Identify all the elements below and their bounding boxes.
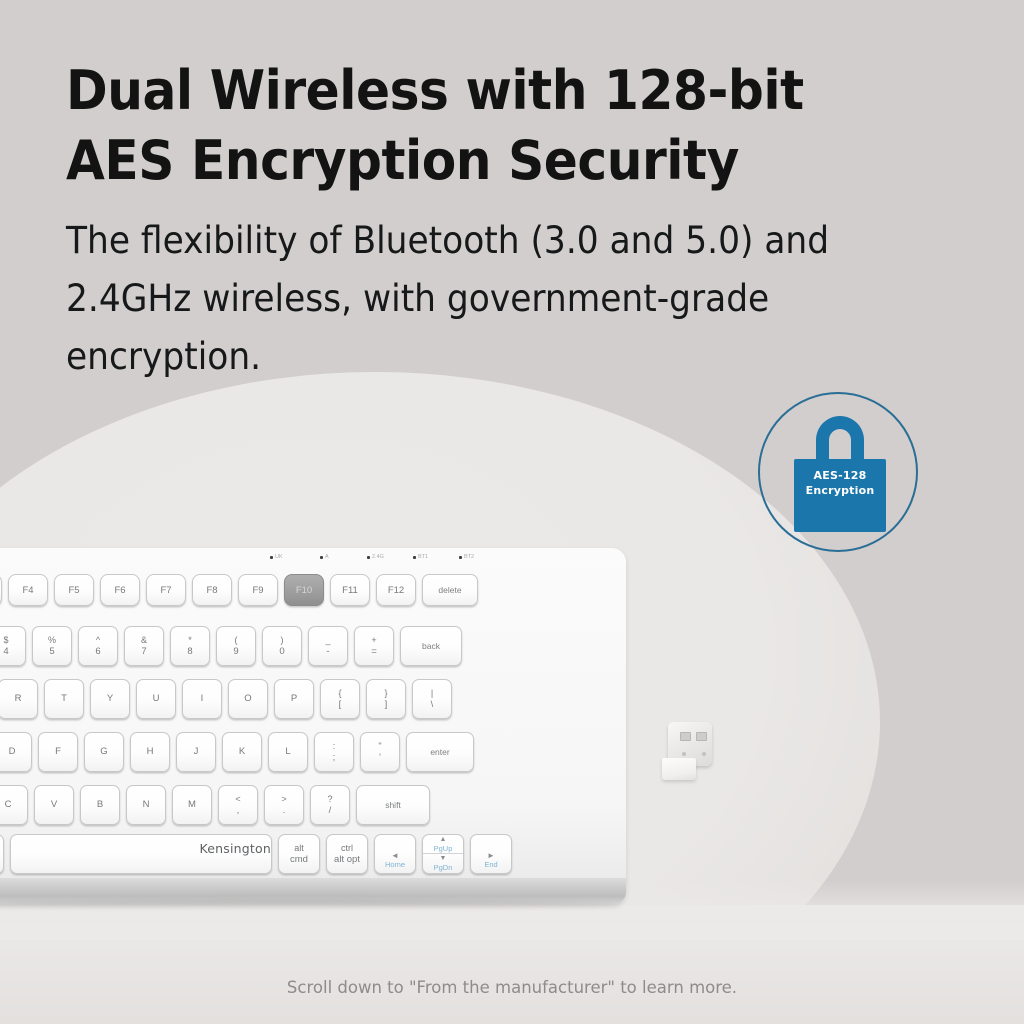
key-label: P <box>291 693 297 705</box>
arrow-glyph-icon: ▼ <box>440 855 447 863</box>
key-label: F7 <box>160 585 171 596</box>
key-label: , <box>237 805 240 817</box>
dongle-contact-slot <box>696 732 707 741</box>
key-shift-label: < <box>235 794 240 805</box>
channel-led-a: A <box>320 554 329 560</box>
key-4[interactable]: $4 <box>0 626 26 666</box>
key-label: U <box>153 693 160 705</box>
led-label: BT1 <box>418 554 428 560</box>
key-g[interactable]: G <box>84 732 124 772</box>
subcopy-line-3: encryption. <box>66 328 866 386</box>
keyboard-qwerty-row: ERTYUIOP{[}]|\ <box>0 679 452 719</box>
key-delete[interactable]: delete <box>422 574 478 606</box>
key-label: M <box>188 799 196 811</box>
key-5[interactable]: %5 <box>32 626 72 666</box>
key-shift-label: _ <box>325 635 330 646</box>
key-shift-label: + <box>371 635 376 646</box>
channel-led-24g: 2.4G <box>367 554 384 560</box>
key-f10[interactable]: F10 <box>284 574 324 606</box>
arrow-glyph-icon: ► <box>487 851 495 860</box>
key-label: D <box>9 746 16 758</box>
key-y[interactable]: Y <box>90 679 130 719</box>
key-h[interactable]: H <box>130 732 170 772</box>
key-label: enter <box>430 747 449 757</box>
key-m[interactable]: M <box>172 785 212 825</box>
key-j[interactable]: J <box>176 732 216 772</box>
key-label: O <box>244 693 251 705</box>
dongle-pin <box>682 752 686 756</box>
key-f9[interactable]: F9 <box>238 574 278 606</box>
key-shift-label: ( <box>235 635 238 646</box>
key-k[interactable]: K <box>222 732 262 772</box>
led-dot-icon <box>413 556 416 559</box>
key-shift-label: $ <box>3 635 8 646</box>
usb-receiver-dongle <box>662 722 716 784</box>
footer-note: Scroll down to "From the manufacturer" t… <box>0 978 1024 997</box>
key-label: J <box>194 746 199 758</box>
key-shift-label: } <box>384 688 387 699</box>
key-i[interactable]: I <box>182 679 222 719</box>
key-shift-label: > <box>281 794 286 805</box>
dongle-tip <box>662 758 696 780</box>
arrow-glyph-icon: ▲ <box>440 836 447 844</box>
subcopy-line-1: The flexibility of Bluetooth (3.0 and 5.… <box>66 212 866 270</box>
key-alt-cmd-left[interactable]: altcmd <box>0 834 4 874</box>
key-arrow-up-down[interactable]: ▲PgUp▼PgDn <box>422 834 464 874</box>
key-label: [ <box>339 699 342 711</box>
led-label: UK <box>275 554 283 560</box>
key-shift-label: " <box>378 741 381 752</box>
key-f11[interactable]: F11 <box>330 574 370 606</box>
key-arrow-right-end[interactable]: ►End <box>470 834 512 874</box>
arrow-secondary-label: PgDn <box>434 863 453 872</box>
badge-label: AES-128 Encryption <box>790 468 890 498</box>
key-label: ] <box>385 699 388 711</box>
key-shift-label: : <box>333 741 336 752</box>
key-9[interactable]: (9 <box>216 626 256 666</box>
badge-label-line-1: AES-128 <box>790 468 890 483</box>
keyboard-home-row: SDFGHJKL:;"'enter <box>0 732 474 772</box>
key-top-label: alt <box>294 843 304 854</box>
key-b[interactable]: B <box>80 785 120 825</box>
key-label: K <box>239 746 245 758</box>
channel-led-uk: UK <box>270 554 283 560</box>
key-f4[interactable]: F4 <box>8 574 48 606</box>
key-l[interactable]: L <box>268 732 308 772</box>
key-shift-label: * <box>188 635 192 646</box>
key-label: Y <box>107 693 113 705</box>
key-shift-label: & <box>141 635 147 646</box>
key-7[interactable]: &7 <box>124 626 164 666</box>
key-label: 6 <box>95 646 100 658</box>
key-f[interactable]: F <box>38 732 78 772</box>
key-label: 0 <box>279 646 284 658</box>
key-rbracket[interactable]: }] <box>366 679 406 719</box>
key-label: 9 <box>233 646 238 658</box>
key-backslash[interactable]: |\ <box>412 679 452 719</box>
key-label: = <box>371 646 377 658</box>
key-comma[interactable]: <, <box>218 785 258 825</box>
key-label: C <box>5 799 12 811</box>
key-semicolon[interactable]: :; <box>314 732 354 772</box>
key-quote[interactable]: "' <box>360 732 400 772</box>
led-dot-icon <box>270 556 273 559</box>
key-spacebar[interactable]: Kensington <box>10 834 272 874</box>
key-t[interactable]: T <box>44 679 84 719</box>
key-enter[interactable]: enter <box>406 732 474 772</box>
key-f7[interactable]: F7 <box>146 574 186 606</box>
key-f12[interactable]: F12 <box>376 574 416 606</box>
channel-led-bt1: BT1 <box>413 554 428 560</box>
arrow-secondary-label: Home <box>385 860 405 869</box>
key-u[interactable]: U <box>136 679 176 719</box>
key-top-label: ctrl <box>341 843 353 854</box>
keyboard-bottom-row: XCVBNM<,>.?/shift <box>0 785 430 825</box>
key-label: 7 <box>141 646 146 658</box>
key-r[interactable]: R <box>0 679 38 719</box>
key-p[interactable]: P <box>274 679 314 719</box>
key-arrow-down-pgdn[interactable]: ▼PgDn <box>423 854 463 873</box>
led-label: 2.4G <box>372 554 384 560</box>
key-6[interactable]: ^6 <box>78 626 118 666</box>
keyboard-modifier-row: altcmdKensingtonaltcmdctrlalt opt◄Home▲P… <box>0 834 512 874</box>
subcopy-line-2: 2.4GHz wireless, with government-grade <box>66 270 866 328</box>
copy-block: Dual Wireless with 128-bit AES Encryptio… <box>66 56 926 386</box>
key-label: - <box>326 646 329 658</box>
key-label: F8 <box>206 585 217 596</box>
channel-led-bt2: BT2 <box>459 554 474 560</box>
key-lbracket[interactable]: {[ <box>320 679 360 719</box>
key-shift[interactable]: shift <box>356 785 430 825</box>
key-label: delete <box>438 585 461 595</box>
key-label: 4 <box>3 646 8 658</box>
key-shift-label: ) <box>281 635 284 646</box>
key-shift-label: ? <box>327 794 332 805</box>
key-arrow-up-pgup[interactable]: ▲PgUp <box>423 835 463 854</box>
key-label: 8 <box>187 646 192 658</box>
key-label: F <box>55 746 61 758</box>
arrow-glyph-icon: ◄ <box>391 851 399 860</box>
key-0[interactable]: )0 <box>262 626 302 666</box>
key-label: F12 <box>388 585 404 596</box>
key-minus[interactable]: _- <box>308 626 348 666</box>
key-label: G <box>100 746 107 758</box>
keyboard-product-photo: UKA2.4GBT1BT2 F3F4F5F6F7F8F9F10F11F12del… <box>0 548 626 904</box>
led-label: A <box>325 554 329 560</box>
key-8[interactable]: *8 <box>170 626 210 666</box>
channel-indicator-leds: UKA2.4GBT1BT2 <box>0 554 626 568</box>
dongle-pin <box>702 752 706 756</box>
key-label: R <box>15 693 22 705</box>
keyboard-number-row: #3$4%5^6&7*8(9)0_-+=back <box>0 626 462 666</box>
key-shift-label: { <box>338 688 341 699</box>
key-shift-label: | <box>431 688 433 699</box>
key-o[interactable]: O <box>228 679 268 719</box>
key-equals[interactable]: += <box>354 626 394 666</box>
key-f3[interactable]: F3 <box>0 574 2 606</box>
key-shift-label: ^ <box>96 635 100 646</box>
key-v[interactable]: V <box>34 785 74 825</box>
key-arrow-left-home[interactable]: ◄Home <box>374 834 416 874</box>
key-label: shift <box>385 800 401 810</box>
key-label: V <box>51 799 57 811</box>
key-d[interactable]: D <box>0 732 32 772</box>
page-subtitle: The flexibility of Bluetooth (3.0 and 5.… <box>66 212 866 386</box>
key-label: F10 <box>296 585 312 596</box>
key-period[interactable]: >. <box>264 785 304 825</box>
led-dot-icon <box>367 556 370 559</box>
aes-encryption-badge: AES-128 Encryption <box>758 392 918 552</box>
key-ctrl-alt-opt[interactable]: ctrlalt opt <box>326 834 368 874</box>
key-label: I <box>201 693 204 705</box>
spacebar-brand-label: Kensington <box>199 841 271 856</box>
key-label: / <box>329 805 332 817</box>
key-label: F9 <box>252 585 263 596</box>
headline-line-1: Dual Wireless with 128-bit <box>66 56 866 126</box>
dongle-contact-slot <box>680 732 691 741</box>
key-label: \ <box>431 699 434 711</box>
led-dot-icon <box>320 556 323 559</box>
led-label: BT2 <box>464 554 474 560</box>
headline-line-2: AES Encryption Security <box>66 126 866 196</box>
page-title: Dual Wireless with 128-bit AES Encryptio… <box>66 56 866 196</box>
key-back[interactable]: back <box>400 626 462 666</box>
key-f5[interactable]: F5 <box>54 574 94 606</box>
key-slash[interactable]: ?/ <box>310 785 350 825</box>
key-label: T <box>61 693 67 705</box>
key-label: H <box>147 746 154 758</box>
lock-icon: AES-128 Encryption <box>790 416 890 532</box>
key-bottom-label: alt opt <box>334 854 360 866</box>
key-label: F11 <box>342 585 358 596</box>
key-shift-label: % <box>48 635 56 646</box>
product-feature-image: Dual Wireless with 128-bit AES Encryptio… <box>0 0 1024 1024</box>
badge-label-line-2: Encryption <box>790 483 890 498</box>
key-alt-cmd-right[interactable]: altcmd <box>278 834 320 874</box>
key-label: B <box>97 799 103 811</box>
key-label: 5 <box>49 646 54 658</box>
key-label: . <box>283 805 286 817</box>
arrow-secondary-label: End <box>484 860 497 869</box>
key-n[interactable]: N <box>126 785 166 825</box>
key-c[interactable]: C <box>0 785 28 825</box>
keyboard-function-row: F3F4F5F6F7F8F9F10F11F12delete <box>0 574 478 606</box>
arrow-secondary-label: PgUp <box>434 844 453 853</box>
key-label: ; <box>333 752 336 764</box>
led-dot-icon <box>459 556 462 559</box>
key-label: N <box>143 799 150 811</box>
key-label: F6 <box>114 585 125 596</box>
key-label: ' <box>379 752 381 764</box>
key-label: L <box>285 746 290 758</box>
key-f6[interactable]: F6 <box>100 574 140 606</box>
key-label: F4 <box>22 585 33 596</box>
key-f8[interactable]: F8 <box>192 574 232 606</box>
key-label: back <box>422 641 440 651</box>
key-bottom-label: cmd <box>290 854 308 866</box>
key-label: F5 <box>68 585 79 596</box>
